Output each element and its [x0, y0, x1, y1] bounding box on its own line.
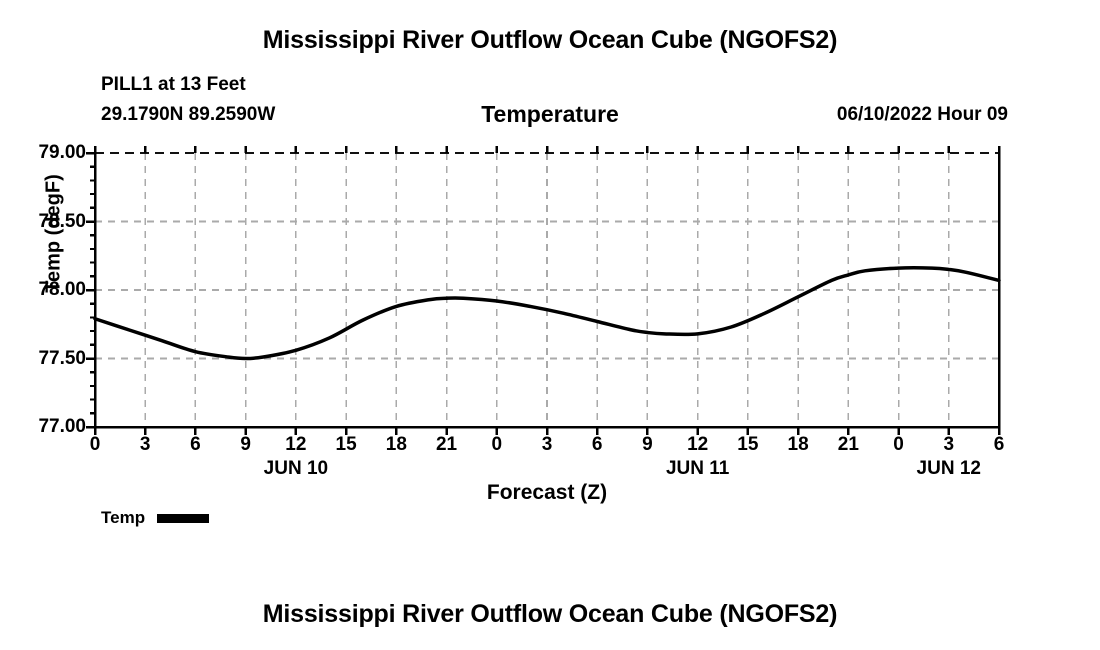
x-tick-label: 3 — [125, 434, 165, 456]
x-tick-label: 3 — [929, 434, 969, 456]
chart-canvas — [0, 0, 1100, 650]
legend-label-temp: Temp — [101, 508, 145, 528]
x-tick-label: 15 — [728, 434, 768, 456]
chart-legend: Temp — [101, 508, 209, 528]
x-tick-label: 0 — [75, 434, 115, 456]
y-tick-label: 78.50 — [0, 212, 86, 231]
y-tick-label: 77.00 — [0, 417, 86, 436]
x-tick-label: 0 — [477, 434, 517, 456]
y-tick-label: 77.50 — [0, 349, 86, 368]
x-tick-label: 12 — [276, 434, 316, 456]
x-tick-label: 9 — [226, 434, 266, 456]
x-tick-label: 18 — [376, 434, 416, 456]
y-tick-label: 78.00 — [0, 280, 86, 299]
x-tick-label: 0 — [879, 434, 919, 456]
x-axis-day-label: JUN 10 — [226, 458, 366, 480]
x-tick-label: 6 — [577, 434, 617, 456]
x-tick-label: 6 — [979, 434, 1019, 456]
legend-swatch-temp — [157, 514, 209, 523]
x-tick-label: 6 — [175, 434, 215, 456]
x-axis-label: Forecast (Z) — [347, 481, 747, 505]
x-tick-label: 18 — [778, 434, 818, 456]
grid-lines — [95, 153, 999, 427]
plot-area: Temp (degF) 77.0077.5078.0078.5079.00 03… — [0, 0, 1100, 650]
y-axis-tick-labels: 77.0077.5078.0078.5079.00 — [0, 0, 86, 650]
chart-page: Mississippi River Outflow Ocean Cube (NG… — [0, 0, 1100, 650]
x-tick-label: 12 — [678, 434, 718, 456]
x-tick-label: 21 — [427, 434, 467, 456]
x-tick-label: 21 — [828, 434, 868, 456]
x-tick-label: 3 — [527, 434, 567, 456]
x-axis-day-label: JUN 12 — [879, 458, 1019, 480]
bottom-title: Mississippi River Outflow Ocean Cube (NG… — [0, 600, 1100, 629]
x-tick-label: 9 — [627, 434, 667, 456]
y-tick-label: 79.00 — [0, 143, 86, 162]
x-tick-label: 15 — [326, 434, 366, 456]
x-axis-day-label: JUN 11 — [628, 458, 768, 480]
